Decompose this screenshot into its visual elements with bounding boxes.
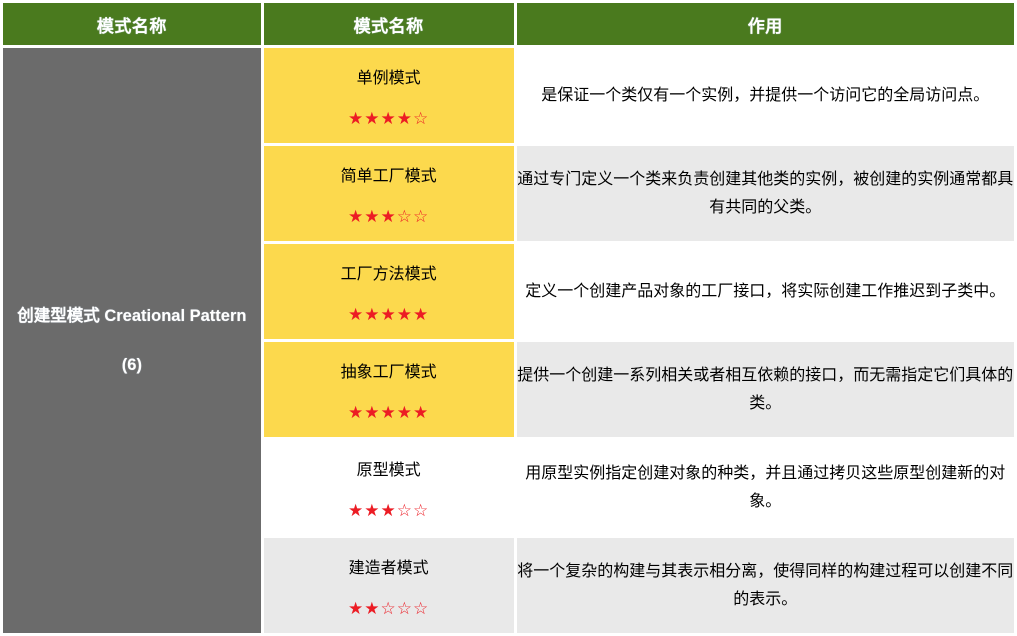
pattern-name: 工厂方法模式 [264,259,514,284]
pattern-cell: 单例模式 ★★★★☆ [264,48,514,143]
role-cell: 提供一个创建一系列相关或者相互依赖的接口，而无需指定它们具体的类。 [517,342,1015,437]
rating-stars: ★★★★☆ [264,111,514,128]
category-count: (6) [3,350,261,381]
pattern-name: 原型模式 [264,455,514,480]
pattern-cell: 简单工厂模式 ★★★☆☆ [264,146,514,241]
role-cell: 通过专门定义一个类来负责创建其他类的实例，被创建的实例通常都具有共同的父类。 [517,146,1015,241]
role-cell: 是保证一个类仅有一个实例，并提供一个访问它的全局访问点。 [517,48,1015,143]
table-header: 模式名称 模式名称 作用 [3,3,1014,45]
header-row: 模式名称 模式名称 作用 [3,3,1014,45]
rating-stars: ★★★★★ [264,307,514,324]
category-name: 创建型模式 Creational Pattern [3,301,261,332]
pattern-name: 建造者模式 [264,553,514,578]
pattern-name: 抽象工厂模式 [264,357,514,382]
rating-stars: ★★★★★ [264,405,514,422]
category-cell: 创建型模式 Creational Pattern (6) [3,48,261,633]
pattern-cell: 工厂方法模式 ★★★★★ [264,244,514,339]
design-pattern-table: 模式名称 模式名称 作用 创建型模式 Creational Pattern (6… [0,0,1017,636]
pattern-cell: 抽象工厂模式 ★★★★★ [264,342,514,437]
pattern-cell: 原型模式 ★★★☆☆ [264,440,514,535]
role-cell: 将一个复杂的构建与其表示相分离，使得同样的构建过程可以创建不同的表示。 [517,538,1015,633]
role-cell: 定义一个创建产品对象的工厂接口，将实际创建工作推迟到子类中。 [517,244,1015,339]
column-header-role: 作用 [517,3,1015,45]
column-header-category: 模式名称 [3,3,261,45]
table-row: 创建型模式 Creational Pattern (6) 单例模式 ★★★★☆ … [3,48,1014,143]
rating-stars: ★★☆☆☆ [264,601,514,618]
role-cell: 用原型实例指定创建对象的种类，并且通过拷贝这些原型创建新的对象。 [517,440,1015,535]
pattern-name: 简单工厂模式 [264,161,514,186]
pattern-name: 单例模式 [264,63,514,88]
rating-stars: ★★★☆☆ [264,503,514,520]
pattern-cell: 建造者模式 ★★☆☆☆ [264,538,514,633]
table-body: 创建型模式 Creational Pattern (6) 单例模式 ★★★★☆ … [3,48,1014,633]
column-header-pattern: 模式名称 [264,3,514,45]
rating-stars: ★★★☆☆ [264,209,514,226]
